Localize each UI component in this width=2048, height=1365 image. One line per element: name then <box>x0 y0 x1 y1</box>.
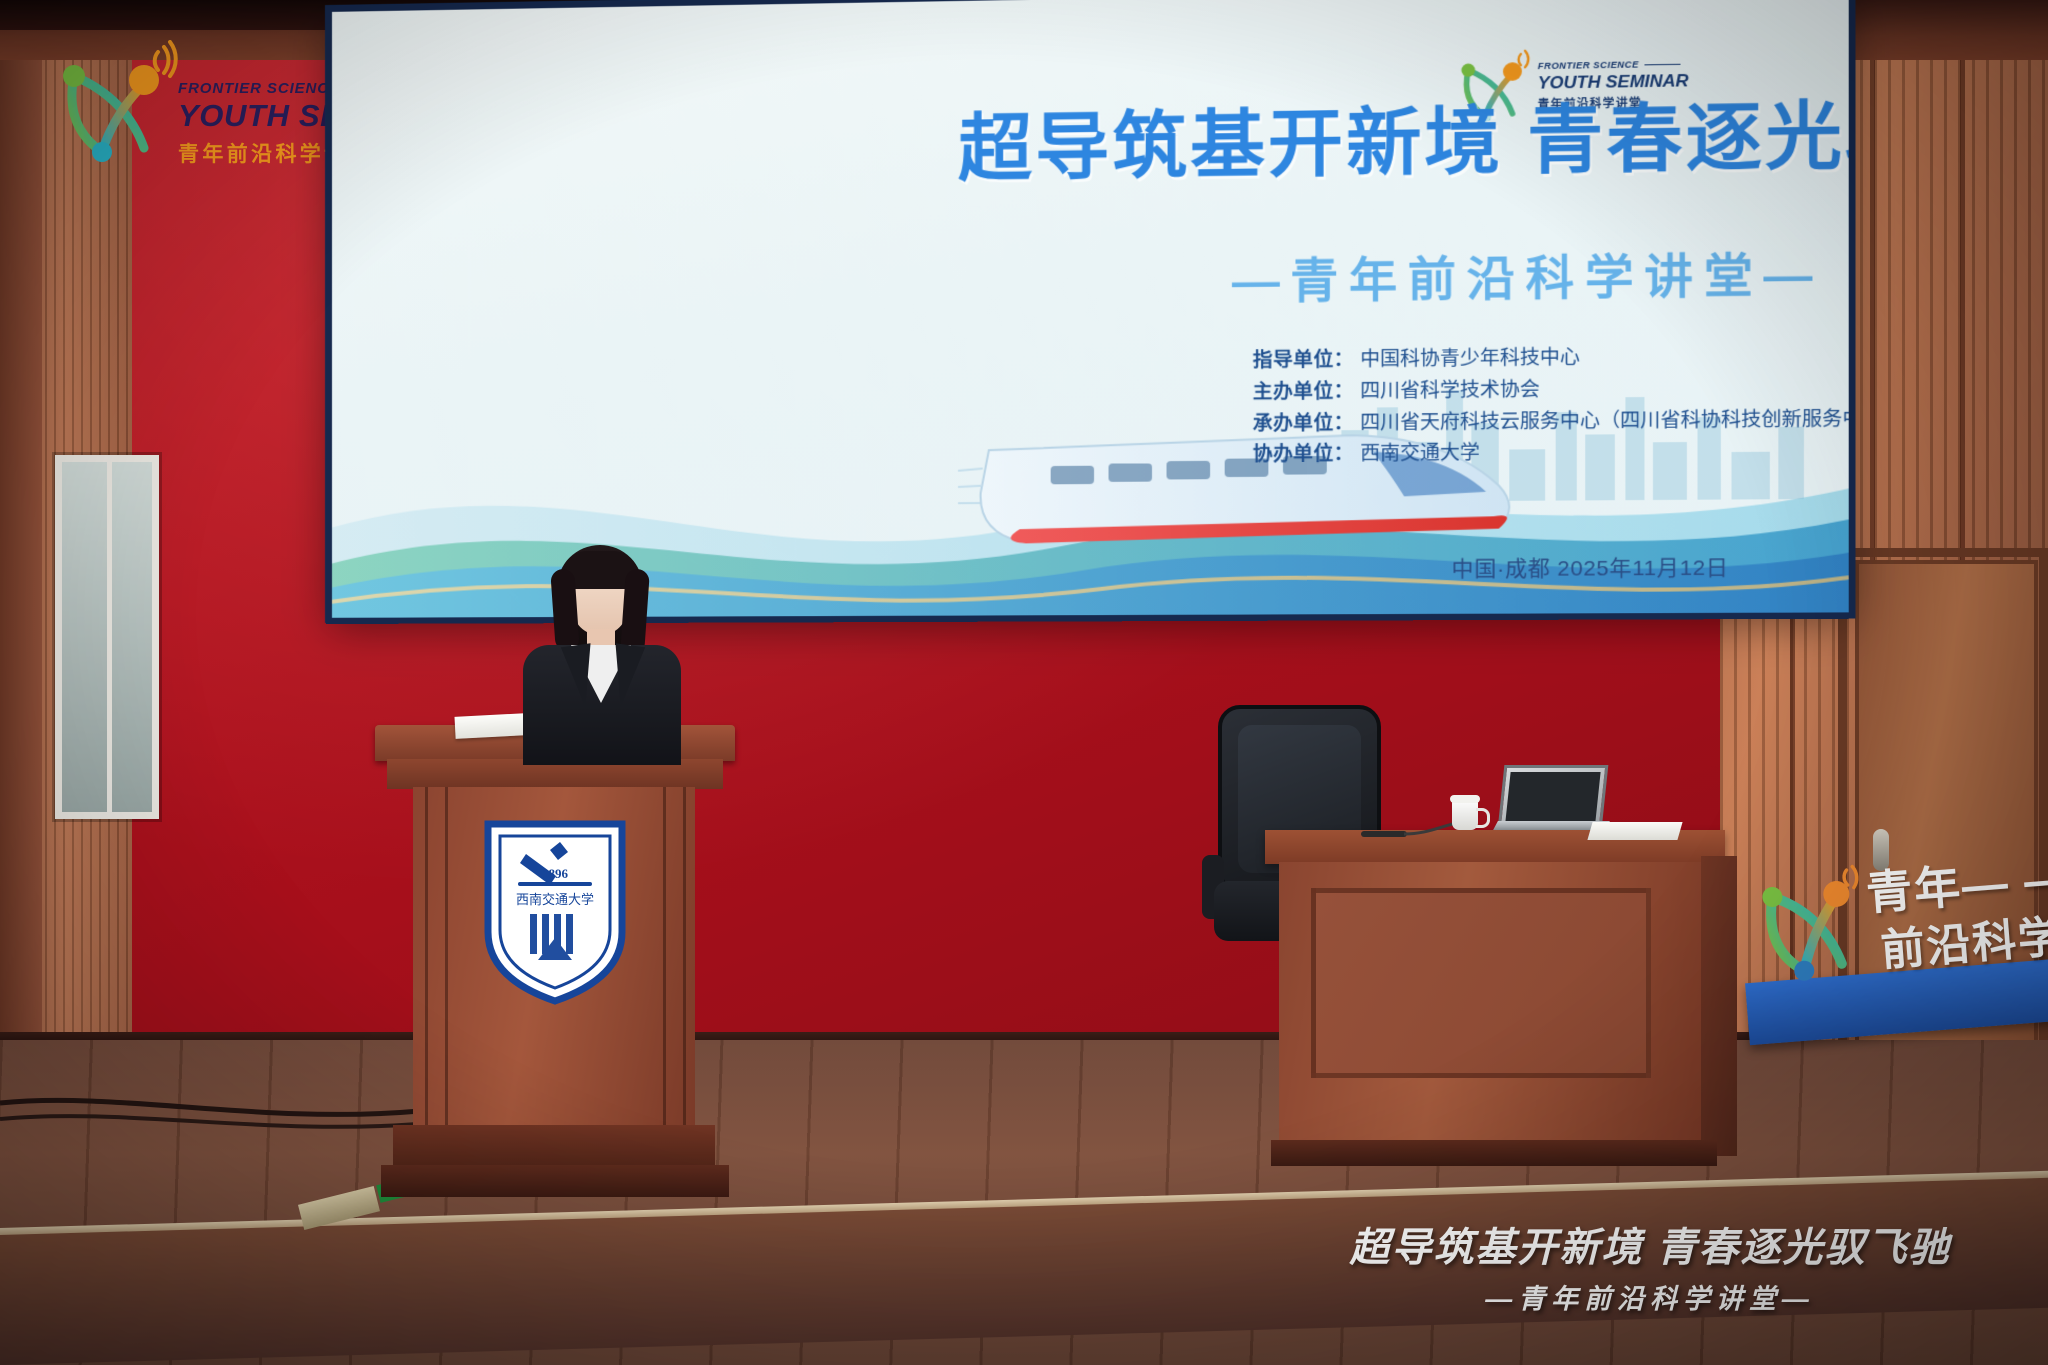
crest-text: 西南交通大学 <box>516 892 594 908</box>
left-wall-window <box>55 455 159 819</box>
desk-side <box>1701 856 1737 1156</box>
desk-name-card <box>1587 822 1682 840</box>
speaker-hair-right <box>620 568 650 655</box>
screen-logo-line-en-large: YOUTH SEMINAR <box>1538 71 1689 94</box>
credit-label: 承办单位： <box>1253 412 1354 434</box>
podium-plinth <box>381 1165 729 1197</box>
youth-seminar-atom-logo-icon <box>48 40 178 170</box>
credit-row: 指导单位：中国科协青少年科技中心 <box>1253 340 1849 378</box>
stage-sign-atom-logo-icon <box>1752 860 1871 988</box>
screen-main-title: 超导筑基开新境 青春逐光驭飞驰 <box>958 97 1849 186</box>
stage-photo-scene: FRONTIER SCIENCE YOUTH SEMINAR 青年前沿科学讲堂 <box>0 0 2048 1365</box>
led-presentation-screen: FRONTIER SCIENCE YOUTH SEMINAR 青年前沿科学讲堂 … <box>330 0 1849 618</box>
screen-logo-line-en-small: FRONTIER SCIENCE <box>1538 59 1680 72</box>
credit-value: 四川省科学技术协会 <box>1360 379 1540 402</box>
speaker-desk <box>1265 830 1725 1190</box>
credit-row: 协办单位：西南交通大学 <box>1253 436 1849 472</box>
credit-label: 协办单位： <box>1253 444 1354 466</box>
credit-row: 承办单位：四川省天府科技云服务中心（四川省科协科技创新服务中心） <box>1253 404 1849 441</box>
credit-value: 西南交通大学 <box>1360 443 1480 465</box>
photo-watermark: 超导筑基开新境 青春逐光驭飞驰 —青年前沿科学讲堂— <box>1270 1225 2030 1316</box>
speaker-person <box>505 545 695 755</box>
credit-value: 中国科协青少年科技中心 <box>1360 347 1580 371</box>
credit-label: 主办单位： <box>1253 381 1354 403</box>
speaker-podium: 1896 西南交通大学 <box>385 725 725 1195</box>
screen-credits-block: 指导单位：中国科协青少年科技中心 主办单位：四川省科学技术协会 承办单位：四川省… <box>1253 340 1849 472</box>
credit-value: 四川省天府科技云服务中心（四川省科协科技创新服务中心） <box>1360 408 1849 434</box>
credit-row: 主办单位：四川省科学技术协会 <box>1253 372 1849 409</box>
left-wood-seam <box>0 0 42 1080</box>
screen-date-location: 中国·成都 2025年11月12日 <box>1451 551 1728 583</box>
open-laptop <box>1495 765 1605 840</box>
desk-foot <box>1271 1140 1717 1166</box>
southwest-jiaotong-university-crest-icon: 1896 西南交通大学 <box>480 820 630 1005</box>
watermark-line-1: 超导筑基开新境 青春逐光驭飞驰 <box>1270 1225 2030 1271</box>
screen-subtitle: —青年前沿科学讲堂— <box>1232 251 1823 305</box>
crest-year: 1896 <box>542 866 569 881</box>
desk-front-panel <box>1311 888 1651 1078</box>
watermark-line-2: —青年前沿科学讲堂— <box>1270 1277 2030 1316</box>
tea-cup <box>1452 800 1478 830</box>
stage-sign: 青年— —讲堂 前沿科学堂 <box>1745 831 2048 1045</box>
credit-label: 指导单位： <box>1253 349 1354 371</box>
